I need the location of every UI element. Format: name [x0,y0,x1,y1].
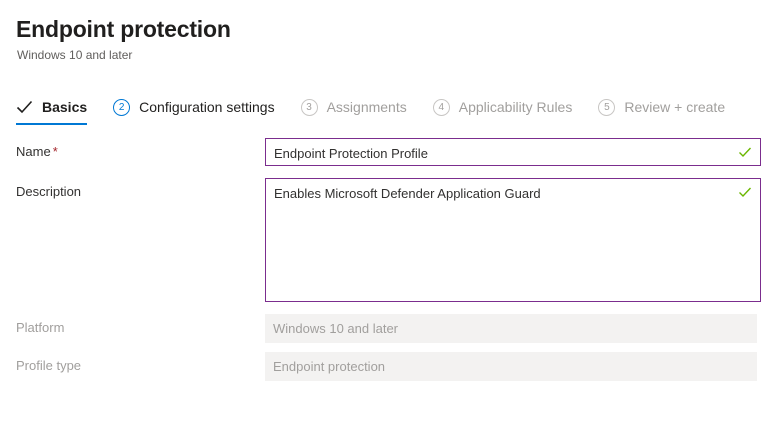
wizard-step-label: Configuration settings [139,98,274,116]
name-control: Endpoint Protection Profile [265,138,774,166]
page-header: Endpoint protection Windows 10 and later [0,0,774,64]
profile-type-readonly-field: Endpoint protection [265,352,757,381]
step-number-badge: 4 [433,99,450,116]
wizard-step-label: Applicability Rules [459,98,573,116]
wizard-step-label: Assignments [327,98,407,116]
name-input[interactable]: Endpoint Protection Profile [265,138,761,166]
platform-readonly-field: Windows 10 and later [265,314,757,343]
name-label: Name* [16,138,265,160]
form-row-platform: Platform Windows 10 and later [16,314,774,343]
wizard-step-label: Basics [42,98,87,116]
profile-type-value: Endpoint protection [265,352,757,381]
name-label-text: Name [16,144,51,159]
wizard-step-label: Review + create [624,98,725,116]
step-number-badge: 2 [113,99,130,116]
wizard-step-assignments[interactable]: 3 Assignments [301,90,407,124]
active-step-underline [16,123,87,125]
valid-checkmark-icon [738,145,752,159]
name-input-value: Endpoint Protection Profile [266,139,760,168]
valid-checkmark-icon [738,185,752,199]
form-row-name: Name* Endpoint Protection Profile [16,138,774,166]
description-control: Enables Microsoft Defender Application G… [265,178,774,302]
form-row-description: Description Enables Microsoft Defender A… [16,178,774,302]
step-number-badge: 5 [598,99,615,116]
form-row-profile-type: Profile type Endpoint protection [16,352,774,381]
wizard-step-tabs: Basics 2 Configuration settings 3 Assign… [0,90,774,124]
description-textarea-value: Enables Microsoft Defender Application G… [266,179,760,208]
platform-value: Windows 10 and later [265,314,757,343]
wizard-step-basics[interactable]: Basics [16,90,87,124]
profile-type-control: Endpoint protection [265,352,774,381]
platform-control: Windows 10 and later [265,314,774,343]
checkmark-icon [16,99,33,116]
page-subtitle: Windows 10 and later [17,47,774,64]
wizard-step-review-create[interactable]: 5 Review + create [598,90,725,124]
description-textarea[interactable]: Enables Microsoft Defender Application G… [265,178,761,302]
profile-type-label: Profile type [16,352,265,374]
description-label: Description [16,178,265,200]
platform-label: Platform [16,314,265,336]
required-asterisk: * [53,144,58,159]
wizard-step-configuration-settings[interactable]: 2 Configuration settings [113,90,274,124]
page-title: Endpoint protection [16,14,774,44]
step-number-badge: 3 [301,99,318,116]
basics-form: Name* Endpoint Protection Profile Descri… [0,138,774,381]
wizard-step-applicability-rules[interactable]: 4 Applicability Rules [433,90,573,124]
